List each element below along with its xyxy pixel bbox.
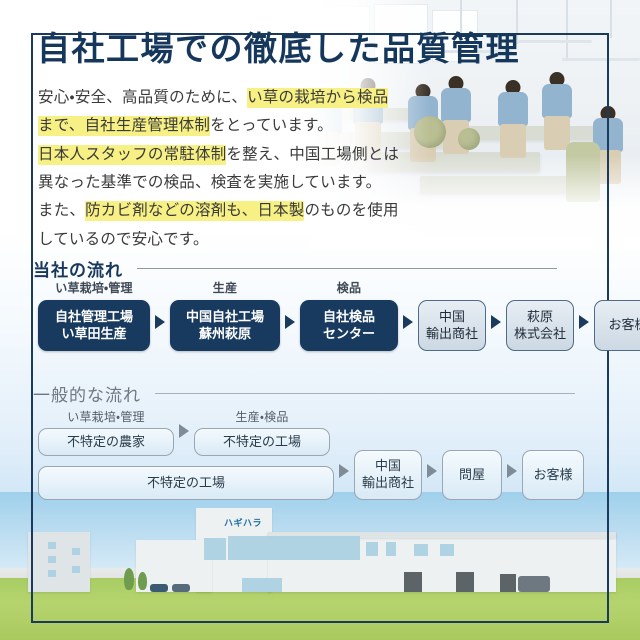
section-title-general-flow: 一般的な流れ bbox=[33, 381, 141, 406]
body-text: のものを使用 bbox=[304, 202, 398, 219]
body-line: しているので安心です。 bbox=[38, 226, 438, 254]
flow-node-label: 蘇州萩原 bbox=[199, 326, 251, 343]
flow-node: 問屋 bbox=[442, 450, 502, 500]
flow-node: い草栽培・管理不特定の農家 bbox=[38, 428, 174, 456]
flow-node: 中国輸出商社 bbox=[418, 300, 486, 351]
flow-node: 不特定の工場 bbox=[38, 466, 334, 500]
flow-node-label: お客様 bbox=[608, 317, 640, 334]
flow-arrow-icon bbox=[427, 464, 437, 478]
flow-node: お客様 bbox=[522, 450, 584, 500]
body-text: 安心・安全、高品質のために、 bbox=[38, 89, 247, 106]
flow-arrow-icon bbox=[491, 315, 501, 329]
heading-rule bbox=[137, 268, 557, 269]
flow-node-label: 不特定の工場 bbox=[223, 434, 301, 451]
general-flow-left-group: い草栽培・管理不特定の農家生産・検品不特定の工場不特定の工場 bbox=[38, 424, 334, 500]
flow-node-label: 自社管理工場 bbox=[55, 309, 133, 326]
flow-node-caption: 生産 bbox=[213, 281, 237, 296]
body-text: をとっています。 bbox=[210, 117, 333, 134]
flow-node: 検品自社検品センター bbox=[300, 300, 398, 351]
heading-rule bbox=[155, 393, 575, 394]
infographic-page: ハギハラ 自社工場での徹底した品質管理 安心・安全、高品質のために、い草の栽培か… bbox=[0, 0, 640, 640]
flow-node-label: 株式会社 bbox=[514, 326, 566, 343]
flow-node-label: 中国自社工場 bbox=[186, 309, 264, 326]
flow-node-label: 輸出商社 bbox=[362, 475, 414, 492]
flow-node-label: 不特定の工場 bbox=[147, 475, 225, 492]
body-text: しているので安心です。 bbox=[38, 231, 209, 248]
flow-arrow-icon bbox=[403, 315, 413, 329]
body-text: 異なった基準での検品、検査を実施しています。 bbox=[38, 174, 381, 191]
flow-node-label: 萩原 bbox=[527, 309, 553, 326]
highlighted-text: 自社生産管理体制 bbox=[84, 116, 210, 136]
page-title: 自社工場での徹底した品質管理 bbox=[37, 31, 520, 67]
flow-node: 萩原株式会社 bbox=[506, 300, 574, 351]
flow-node: 中国輸出商社 bbox=[354, 450, 422, 500]
flow-node-label: 中国 bbox=[439, 309, 465, 326]
flow-node-label: い草田生産 bbox=[61, 326, 126, 343]
content-layer: 自社工場での徹底した品質管理 安心・安全、高品質のために、い草の栽培から検品まで… bbox=[0, 0, 640, 640]
flow-node-label: 中国 bbox=[375, 458, 401, 475]
flow-node-label: 問屋 bbox=[459, 467, 485, 484]
flow-node: 生産中国自社工場蘇州萩原 bbox=[170, 300, 280, 351]
section-heading-general-flow: 一般的な流れ bbox=[33, 381, 575, 406]
body-line: 日本人スタッフの常駐体制を整え、中国工場側とは bbox=[38, 141, 438, 169]
body-text: また、 bbox=[38, 202, 85, 219]
highlighted-text: まで、 bbox=[38, 116, 84, 136]
flow-node: 生産・検品不特定の工場 bbox=[194, 428, 330, 456]
body-line: まで、自社生産管理体制をとっています。 bbox=[38, 112, 438, 140]
section-title-our-flow: 当社の流れ bbox=[33, 256, 123, 281]
flow-arrow-icon bbox=[507, 464, 517, 478]
flow-arrow-icon bbox=[179, 424, 189, 438]
highlighted-text: 日本人スタッフの常駐体制 bbox=[38, 145, 226, 165]
general-flow-diagram: い草栽培・管理不特定の農家生産・検品不特定の工場不特定の工場中国輸出商社問屋お客… bbox=[38, 424, 584, 500]
flow-node-caption: 検品 bbox=[337, 281, 361, 296]
highlighted-text: 日本製 bbox=[257, 201, 304, 221]
flow-node-caption: 生産・検品 bbox=[235, 410, 288, 425]
body-text: を整え、中国工場側とは bbox=[226, 146, 399, 163]
flow-node-label: 不特定の農家 bbox=[67, 434, 145, 451]
flow-node: い草栽培・管理自社管理工場い草田生産 bbox=[38, 300, 150, 351]
flow-node-label: センター bbox=[323, 326, 375, 343]
flow-node: お客様 bbox=[594, 300, 640, 351]
our-flow-diagram: い草栽培・管理自社管理工場い草田生産生産中国自社工場蘇州萩原検品自社検品センター… bbox=[38, 300, 640, 351]
body-paragraph: 安心・安全、高品質のために、い草の栽培から検品まで、自社生産管理体制をとっていま… bbox=[38, 84, 438, 254]
highlighted-text: 防カビ剤などの溶剤も、 bbox=[85, 201, 257, 221]
flow-arrow-icon bbox=[155, 315, 165, 329]
flow-node-caption: い草栽培・管理 bbox=[67, 410, 144, 425]
highlighted-text: い草の栽培から検品 bbox=[247, 88, 388, 108]
flow-node-label: お客様 bbox=[533, 467, 572, 484]
body-line: 異なった基準での検品、検査を実施しています。 bbox=[38, 169, 438, 197]
general-flow-bottom-row: 不特定の工場 bbox=[38, 466, 334, 500]
flow-arrow-icon bbox=[285, 315, 295, 329]
flow-node-caption: い草栽培・管理 bbox=[55, 281, 132, 296]
flow-node-label: 自社検品 bbox=[323, 309, 375, 326]
section-heading-our-flow: 当社の流れ bbox=[33, 256, 557, 281]
general-flow-top-row: い草栽培・管理不特定の農家生産・検品不特定の工場 bbox=[38, 424, 334, 460]
flow-arrow-icon bbox=[339, 464, 349, 478]
flow-node-label: 輸出商社 bbox=[426, 326, 478, 343]
flow-arrow-icon bbox=[579, 315, 589, 329]
body-line: また、防カビ剤などの溶剤も、日本製のものを使用 bbox=[38, 197, 438, 225]
body-line: 安心・安全、高品質のために、い草の栽培から検品 bbox=[38, 84, 438, 112]
